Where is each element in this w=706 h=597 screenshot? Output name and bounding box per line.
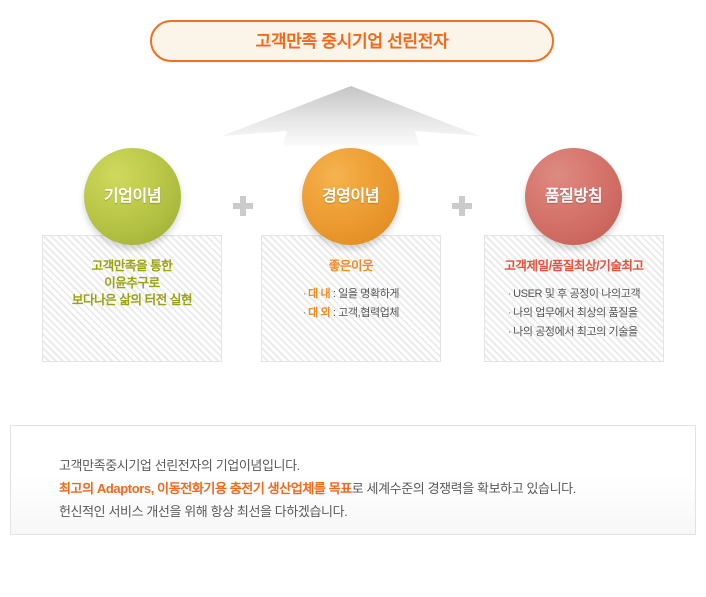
- list-item: ·USER 및 후 공정이 나의고객: [508, 285, 640, 304]
- description-line-2-rest: 로 세계수준의 경쟁력을 확보하고 있습니다.: [352, 481, 576, 496]
- bullet-text: 나의 업무에서 최상의 품질을: [513, 307, 638, 319]
- page-title: 고객만족 중시기업 선린전자: [256, 33, 449, 50]
- pillar-bullets-3: ·USER 및 후 공정이 나의고객 ·나의 업무에서 최상의 품질을 ·나의 …: [508, 285, 640, 342]
- plus-separator-1: [233, 196, 253, 216]
- pillar-circle-2: 경영이념: [302, 148, 399, 245]
- pillar-circle-label-2: 경영이념: [322, 189, 379, 205]
- list-item: ·대 내 : 일을 명확하게: [303, 285, 399, 304]
- pillar-circle-label-1: 기업이념: [104, 189, 161, 205]
- bullet-dot: ·: [508, 326, 511, 338]
- upward-arrow: [222, 86, 480, 146]
- bullet-text: 나의 공정에서 최고의 기술을: [513, 326, 638, 338]
- bullet-text: 일을 명확하게: [338, 288, 399, 300]
- list-item: ·나의 업무에서 최상의 품질을: [508, 304, 640, 323]
- pillar-circle-label-3: 품질방침: [545, 189, 602, 205]
- list-item: ·나의 공정에서 최고의 기술을: [508, 323, 640, 342]
- pillar-box-1: 고객만족을 통한 이윤추구로 보다나은 삶의 터전 실현: [42, 235, 222, 362]
- pillar-title-line: 이윤추구로: [43, 275, 221, 292]
- bullet-dot: ·: [303, 288, 306, 300]
- pillar-title-2: 좋은이웃: [262, 258, 440, 275]
- pillar-box-2: 좋은이웃 ·대 내 : 일을 명확하게 ·대 외 : 고객,협력업체: [261, 235, 441, 362]
- pillar-box-3: 고객제일/품질최상/기술최고 ·USER 및 후 공정이 나의고객 ·나의 업무…: [484, 235, 664, 362]
- description-line-3: 헌신적인 서비스 개선을 위해 항상 최선을 다하겠습니다.: [59, 500, 695, 523]
- bullet-dot: ·: [508, 307, 511, 319]
- pillar-title-1: 고객만족을 통한 이윤추구로 보다나은 삶의 터전 실현: [43, 258, 221, 309]
- pillar-circle-3: 품질방침: [525, 148, 622, 245]
- pillar-title-line: 고객제일/품질최상/기술최고: [485, 258, 663, 275]
- pillar-title-line: 좋은이웃: [262, 258, 440, 275]
- description-line-1: 고객만족중시기업 선린전자의 기업이념입니다.: [59, 454, 695, 477]
- diagram-canvas: 고객만족 중시기업 선린전자 고객만족을 통한 이윤추구로 보다나은 삶의: [0, 0, 706, 597]
- bullet-dot: ·: [508, 288, 511, 300]
- list-item: ·대 외 : 고객,협력업체: [303, 304, 399, 323]
- bullet-tag: 대 외: [308, 307, 330, 319]
- bullet-text: USER 및 후 공정이 나의고객: [513, 288, 640, 300]
- bullet-tag: 대 내: [308, 288, 330, 300]
- pillar-circle-1: 기업이념: [84, 148, 181, 245]
- bullet-dot: ·: [303, 307, 306, 319]
- header-pill: 고객만족 중시기업 선린전자: [150, 20, 554, 62]
- bullet-text: 고객,협력업체: [338, 307, 399, 319]
- pillar-bullets-2: ·대 내 : 일을 명확하게 ·대 외 : 고객,협력업체: [303, 285, 399, 323]
- pillar-title-line: 보다나은 삶의 터전 실현: [43, 292, 221, 309]
- bullet-separator: :: [330, 288, 338, 300]
- bullet-separator: :: [330, 307, 338, 319]
- description-highlight: 최고의 Adaptors, 이동전화기용 충전기 생산업체를 목표: [59, 481, 352, 496]
- plus-separator-2: [452, 196, 472, 216]
- description-line-2: 최고의 Adaptors, 이동전화기용 충전기 생산업체를 목표로 세계수준의…: [59, 477, 695, 500]
- pillar-title-3: 고객제일/품질최상/기술최고: [485, 258, 663, 275]
- pillar-title-line: 고객만족을 통한: [43, 258, 221, 275]
- description-panel: 고객만족중시기업 선린전자의 기업이념입니다. 최고의 Adaptors, 이동…: [10, 425, 696, 535]
